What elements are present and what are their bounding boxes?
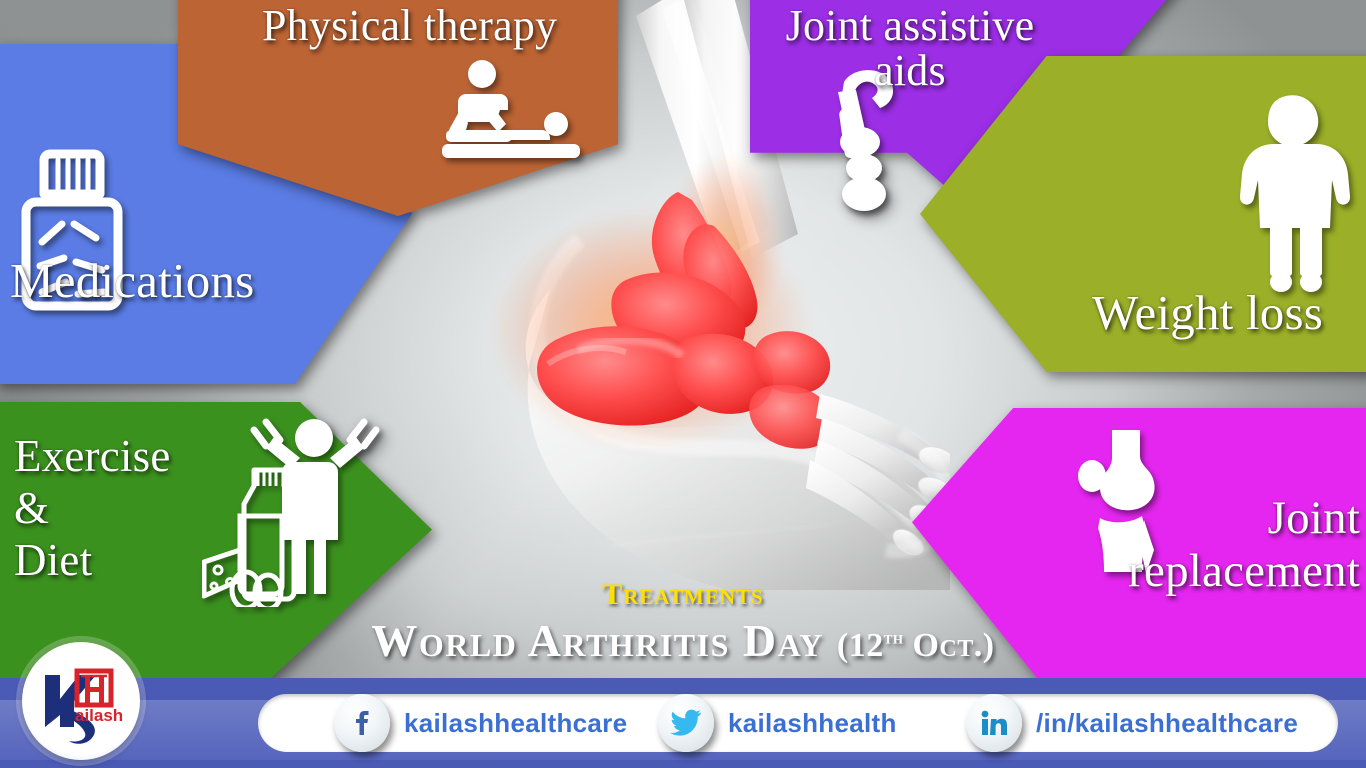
kailash-healthcare-logo[interactable]: ailash (22, 642, 140, 760)
social-links-pill: kailashhealthcare kailashhealth (258, 694, 1338, 752)
social-link-twitter[interactable]: kailashhealth (658, 694, 897, 752)
date-paren-open: ( (837, 627, 849, 664)
massage-therapy-icon (436, 58, 586, 162)
date-paren-close: ) (983, 627, 995, 664)
footer-bar: kailashhealthcare kailashhealth (0, 678, 1366, 768)
twitter-icon (658, 694, 714, 752)
panel-exercise-diet-label: Exercise & Diet (14, 430, 171, 587)
headline-date: (12th Oct.) (837, 627, 995, 664)
panel-physical-therapy[interactable]: Physical therapy (178, 0, 618, 216)
social-link-facebook[interactable]: kailashhealthcare (334, 694, 627, 752)
panel-weight-loss[interactable]: Weight loss (920, 56, 1366, 372)
poster-canvas: Medications Physical therapy (0, 0, 1366, 768)
headline-main: World Arthritis Day (12th Oct.) (0, 614, 1366, 667)
headline-block: Treatments World Arthritis Day (12th Oct… (0, 578, 1366, 667)
panel-physical-therapy-label: Physical therapy (262, 4, 557, 49)
date-number: 12 (849, 627, 884, 664)
facebook-handle: kailashhealthcare (404, 708, 627, 739)
linkedin-handle: /in/kailashhealthcare (1036, 708, 1298, 739)
headline-kicker: Treatments (0, 578, 1366, 612)
panel-weight-loss-label: Weight loss (1092, 288, 1323, 338)
headline-title-text: World Arthritis Day (371, 615, 824, 666)
facebook-icon (334, 694, 390, 752)
panel-medications-label: Medications (10, 256, 254, 306)
twitter-handle: kailashhealth (728, 708, 897, 739)
social-link-linkedin[interactable]: /in/kailashhealthcare (966, 694, 1298, 752)
logo-wordmark: ailash (75, 706, 123, 725)
date-ordinal-suffix: th (884, 628, 904, 649)
overweight-person-icon (1240, 92, 1352, 292)
date-month: Oct. (913, 627, 983, 664)
linkedin-icon (966, 694, 1022, 752)
